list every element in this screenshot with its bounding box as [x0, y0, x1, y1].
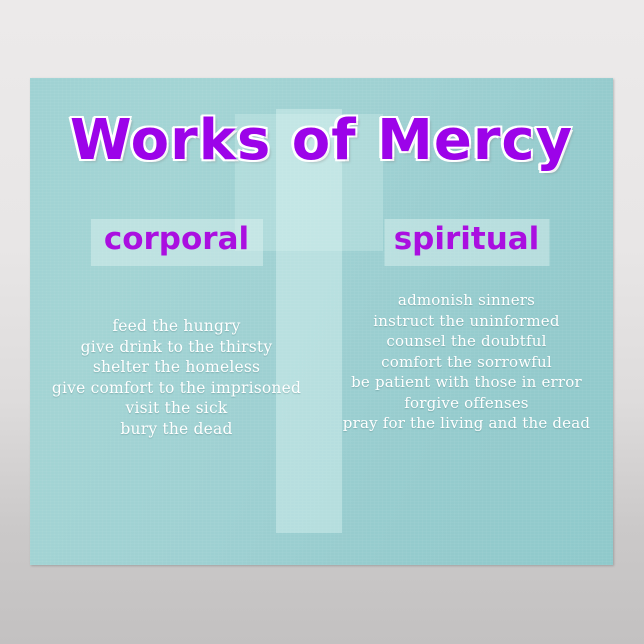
page-title: Works of Mercy: [30, 108, 613, 173]
poster-preview-canvas: Works of Mercy corporal feed the hungry …: [0, 0, 644, 644]
works-of-mercy-poster: Works of Mercy corporal feed the hungry …: [30, 78, 613, 565]
list-item: comfort the sorrowful: [325, 352, 608, 373]
list-item: give drink to the thirsty: [35, 337, 318, 358]
list-item: counsel the doubtful: [325, 331, 608, 352]
spiritual-heading: spiritual: [325, 213, 608, 265]
list-item: forgive offenses: [325, 393, 608, 414]
list-item: shelter the homeless: [35, 357, 318, 378]
spiritual-works-list: admonish sinners instruct the uninformed…: [325, 290, 608, 434]
list-item: feed the hungry: [35, 316, 318, 337]
list-item: be patient with those in error: [325, 372, 608, 393]
list-item: give comfort to the imprisoned: [35, 378, 318, 399]
list-item: visit the sick: [35, 398, 318, 419]
list-item: instruct the uninformed: [325, 311, 608, 332]
corporal-works-list: feed the hungry give drink to the thirst…: [35, 316, 318, 439]
corporal-heading-wrap: corporal: [35, 213, 318, 271]
list-item: admonish sinners: [325, 290, 608, 311]
spiritual-heading-wrap: spiritual: [325, 213, 608, 271]
list-item: bury the dead: [35, 419, 318, 440]
corporal-heading: corporal: [35, 213, 318, 265]
spiritual-works-column: spiritual admonish sinners instruct the …: [325, 213, 608, 434]
corporal-works-column: corporal feed the hungry give drink to t…: [35, 213, 318, 439]
list-item: pray for the living and the dead: [325, 413, 608, 434]
